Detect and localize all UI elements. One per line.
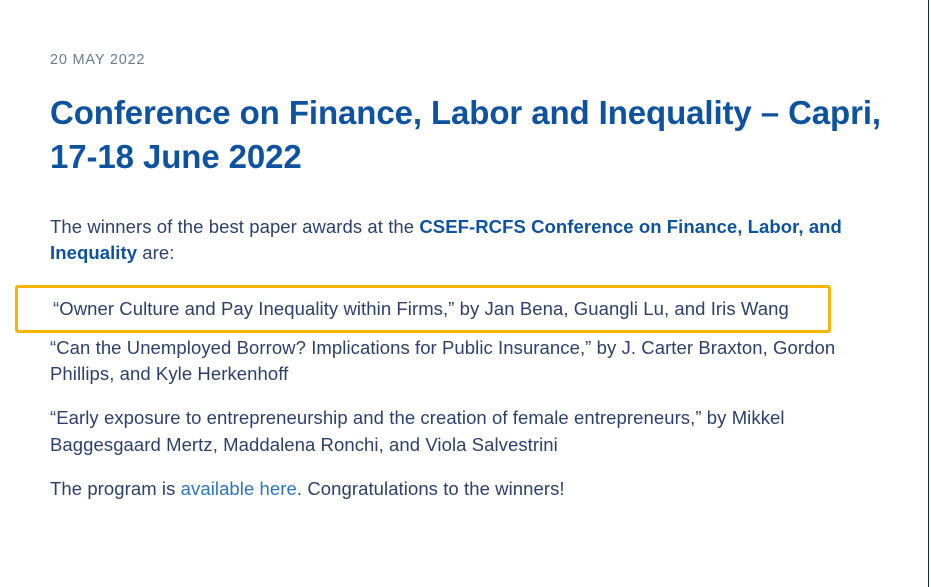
intro-paragraph: The winners of the best paper awards at …	[50, 214, 890, 267]
highlighted-award-box: “Owner Culture and Pay Inequality within…	[15, 285, 831, 333]
article-body: The winners of the best paper awards at …	[50, 214, 890, 502]
intro-lead-text: The winners of the best paper awards at …	[50, 216, 419, 237]
award-list: “Owner Culture and Pay Inequality within…	[50, 285, 890, 388]
post-date: 20 MAY 2022	[50, 52, 890, 69]
award-item-3: “Early exposure to entrepreneurship and …	[50, 405, 890, 458]
article-container: 20 MAY 2022 Conference on Finance, Labor…	[50, 0, 890, 502]
closing-trail-text: . Congratulations to the winners!	[297, 478, 565, 499]
closing-lead-text: The program is	[50, 478, 181, 499]
award-item-1: “Owner Culture and Pay Inequality within…	[53, 296, 818, 322]
intro-trail-text: are:	[137, 242, 174, 263]
page-title: Conference on Finance, Labor and Inequal…	[50, 91, 890, 179]
closing-paragraph: The program is available here. Congratul…	[50, 476, 890, 502]
program-link[interactable]: available here	[181, 478, 297, 499]
award-item-2: “Can the Unemployed Borrow? Implications…	[50, 335, 890, 388]
page-right-rule	[928, 0, 929, 587]
